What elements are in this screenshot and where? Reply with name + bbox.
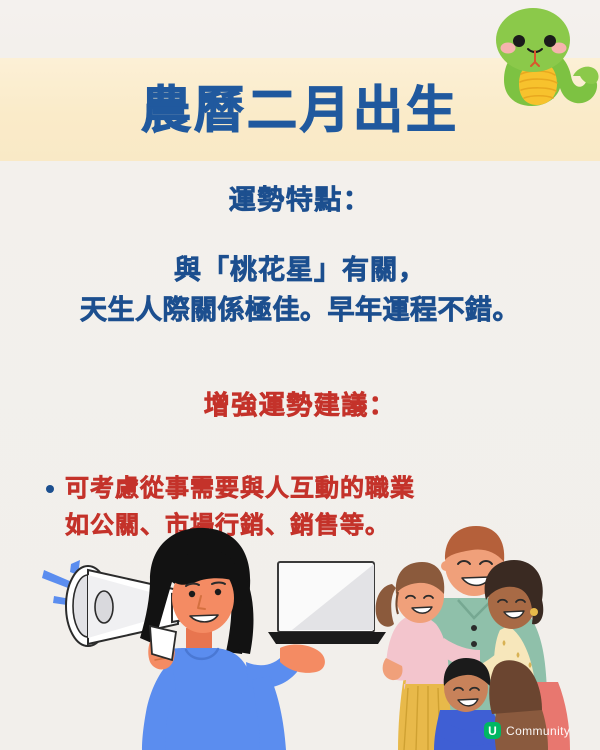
section-heading-advice: 增強運勢建議： <box>0 386 600 424</box>
fortune-line-2: 天生人際關係極佳。早年運程不錯。 <box>0 290 600 330</box>
watermark: U Community <box>484 722 570 739</box>
u-community-logo-icon: U <box>484 722 501 739</box>
green-snake-icon <box>470 2 600 122</box>
advice-line-1: 可考慮從事需要與人互動的職業 <box>65 470 415 507</box>
bullet-dot-icon <box>46 485 54 493</box>
section-heading-fortune: 運勢特點： <box>0 180 600 220</box>
poster-canvas: 農曆二月出生 <box>0 0 600 750</box>
illustration-strip <box>0 520 600 750</box>
section-body-fortune: 與「桃花星」有關， 天生人際關係極佳。早年運程不錯。 <box>0 250 600 330</box>
fortune-line-1: 與「桃花星」有關， <box>0 250 600 290</box>
woman-with-megaphone-illustration <box>42 528 386 750</box>
watermark-label: Community <box>506 724 570 738</box>
family-group-hug-illustration <box>376 526 570 750</box>
